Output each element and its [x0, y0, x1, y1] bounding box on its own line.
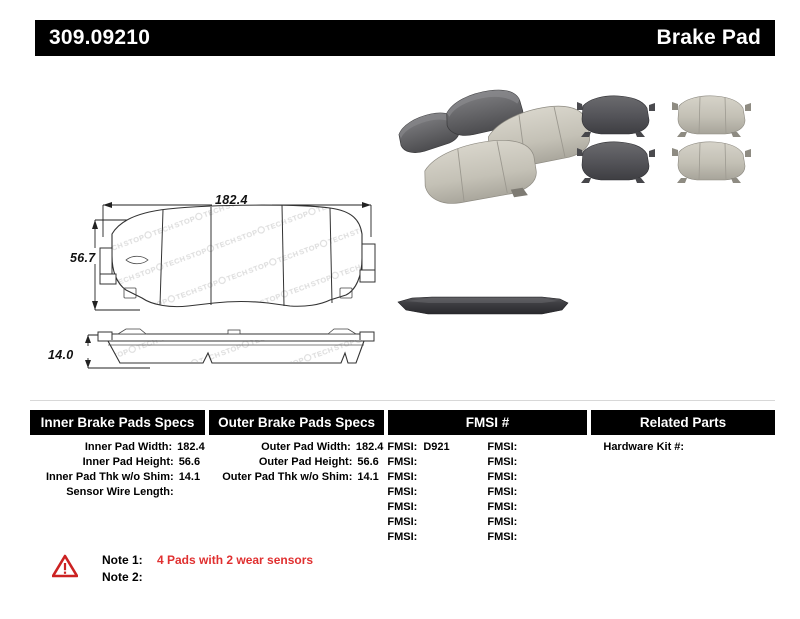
column-outer-specs: Outer Pad Width: 182.4 Outer Pad Height:…	[209, 440, 384, 545]
photo-angled-pad-set	[390, 82, 590, 207]
fmsi-value	[517, 485, 523, 500]
spec-label: Outer Pad Width:	[261, 440, 351, 455]
spec-label: Outer Pad Thk w/o Shim:	[222, 470, 352, 485]
spec-row: Inner Pad Thk w/o Shim: 14.1	[30, 470, 205, 485]
fmsi-label: FMSI:	[487, 455, 517, 470]
spec-row: Outer Pad Width: 182.4	[209, 440, 384, 455]
table-header-row: Inner Brake Pads Specs Outer Brake Pads …	[30, 410, 775, 435]
fmsi-label: FMSI:	[387, 515, 417, 530]
drawing-and-photo-area: STOP TECH	[0, 62, 800, 392]
fmsi-row: FMSI:	[487, 485, 587, 500]
specification-table: Inner Brake Pads Specs Outer Brake Pads …	[30, 410, 775, 545]
fmsi-row: FMSI:	[487, 455, 587, 470]
spec-value: 14.1	[174, 470, 205, 485]
column-fmsi: FMSI: D921 FMSI: FMSI: FMSI: FMSI:	[387, 440, 587, 545]
fmsi-label: FMSI:	[387, 500, 417, 515]
fmsi-value	[417, 455, 423, 470]
header-outer-specs: Outer Brake Pads Specs	[209, 410, 384, 435]
product-type: Brake Pad	[656, 26, 761, 50]
fmsi-row: FMSI:	[487, 440, 587, 455]
photo-pad-edge-view	[392, 284, 572, 334]
fmsi-value	[417, 470, 423, 485]
fmsi-row: FMSI:	[487, 530, 587, 545]
fmsi-row: FMSI:	[487, 500, 587, 515]
fmsi-row: FMSI:	[387, 455, 487, 470]
spec-value: 14.1	[352, 470, 383, 485]
spec-label: Inner Pad Thk w/o Shim:	[46, 470, 174, 485]
fmsi-row: FMSI:	[387, 515, 487, 530]
table-body: Inner Pad Width: 182.4 Inner Pad Height:…	[30, 440, 775, 545]
note-2-value	[150, 569, 157, 586]
spec-label: Inner Pad Width:	[85, 440, 172, 455]
fmsi-subcolumn-left: FMSI: D921 FMSI: FMSI: FMSI: FMSI:	[387, 440, 487, 545]
spec-row: Inner Pad Height: 56.6	[30, 455, 205, 470]
fmsi-row: FMSI:	[487, 470, 587, 485]
fmsi-label: FMSI:	[387, 440, 417, 455]
fmsi-label: FMSI:	[487, 500, 517, 515]
spec-value: 56.6	[352, 455, 383, 470]
fmsi-value	[417, 485, 423, 500]
note-lines: Note 1: 4 Pads with 2 wear sensors Note …	[102, 552, 313, 586]
fmsi-value: D921	[417, 440, 449, 455]
note-1-label: Note 1:	[102, 552, 150, 569]
fmsi-label: FMSI:	[487, 485, 517, 500]
fmsi-value	[517, 500, 523, 515]
related-part-label: Hardware Kit #:	[603, 440, 684, 455]
spec-label: Sensor Wire Length:	[66, 485, 173, 500]
fmsi-row: FMSI: D921	[387, 440, 487, 455]
fmsi-value	[517, 515, 523, 530]
side-view-group	[85, 329, 380, 374]
spec-row: Inner Pad Width: 182.4	[30, 440, 205, 455]
dimension-height-label: 56.7	[70, 251, 96, 265]
part-number: 309.09210	[49, 26, 150, 50]
notes-section: Note 1: 4 Pads with 2 wear sensors Note …	[52, 552, 313, 586]
spec-row	[209, 485, 384, 500]
fmsi-value	[517, 440, 523, 455]
fmsi-value	[417, 500, 423, 515]
header-fmsi: FMSI #	[388, 410, 587, 435]
fmsi-row: FMSI:	[387, 530, 487, 545]
related-part-value	[684, 440, 689, 455]
header-related-parts: Related Parts	[591, 410, 775, 435]
spec-value: 182.4	[172, 440, 205, 455]
spec-row: Sensor Wire Length:	[30, 485, 205, 500]
fmsi-value	[517, 530, 523, 545]
fmsi-label: FMSI:	[487, 515, 517, 530]
fmsi-value	[517, 455, 523, 470]
column-related-parts: Hardware Kit #:	[591, 440, 775, 545]
fmsi-subcolumn-right: FMSI: FMSI: FMSI: FMSI: FMSI:	[487, 440, 587, 545]
fmsi-label: FMSI:	[487, 530, 517, 545]
note-2-label: Note 2:	[102, 569, 150, 586]
fmsi-row: FMSI:	[387, 485, 487, 500]
fmsi-row: FMSI:	[487, 515, 587, 530]
front-view-group	[92, 197, 380, 322]
fmsi-label: FMSI:	[487, 440, 517, 455]
fmsi-row: FMSI:	[387, 470, 487, 485]
column-inner-specs: Inner Pad Width: 182.4 Inner Pad Height:…	[30, 440, 205, 545]
note-row-1: Note 1: 4 Pads with 2 wear sensors	[102, 552, 313, 569]
fmsi-value	[417, 530, 423, 545]
spec-label: Outer Pad Height:	[259, 455, 353, 470]
note-1-value: 4 Pads with 2 wear sensors	[150, 552, 313, 569]
header-inner-specs: Inner Brake Pads Specs	[30, 410, 205, 435]
spec-value: 56.6	[174, 455, 205, 470]
page-header-bar: 309.09210 Brake Pad	[35, 20, 775, 56]
related-part-row: Hardware Kit #:	[591, 440, 775, 455]
photo-flat-pad-set	[575, 90, 760, 190]
warning-triangle-icon	[52, 554, 78, 578]
spec-row: Outer Pad Height: 56.6	[209, 455, 384, 470]
fmsi-value	[517, 470, 523, 485]
spec-row: Outer Pad Thk w/o Shim: 14.1	[209, 470, 384, 485]
fmsi-row: FMSI:	[387, 500, 487, 515]
dimension-thickness-label: 14.0	[48, 348, 74, 362]
fmsi-label: FMSI:	[387, 530, 417, 545]
spec-label: Inner Pad Height:	[83, 455, 174, 470]
fmsi-label: FMSI:	[387, 455, 417, 470]
note-row-2: Note 2:	[102, 569, 313, 586]
fmsi-label: FMSI:	[387, 470, 417, 485]
spec-value: 182.4	[351, 440, 384, 455]
fmsi-label: FMSI:	[387, 485, 417, 500]
dimension-width-label: 182.4	[215, 193, 248, 207]
fmsi-label: FMSI:	[487, 470, 517, 485]
fmsi-value	[417, 515, 423, 530]
table-top-divider	[30, 400, 775, 401]
